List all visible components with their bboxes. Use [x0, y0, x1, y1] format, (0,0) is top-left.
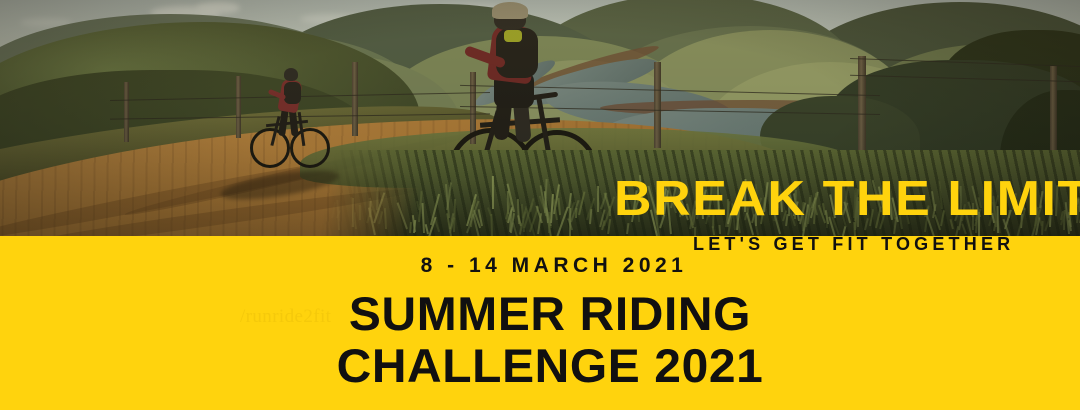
grass-blade — [409, 222, 412, 234]
rider-head — [284, 68, 298, 81]
grass-blade — [490, 214, 493, 236]
grass-blade — [597, 186, 599, 212]
grass-blade — [359, 205, 361, 220]
grass-blade — [491, 176, 493, 209]
grass-blade — [384, 208, 387, 229]
grass-blade — [529, 203, 534, 212]
fence-post — [1050, 66, 1057, 154]
hero-photo: BREAK THE LIMITS — [0, 0, 1080, 237]
grass-blade — [331, 202, 336, 218]
grass-blade — [379, 211, 384, 224]
grass-blade — [719, 225, 722, 234]
grass-blade — [609, 206, 611, 216]
grass-blade — [397, 202, 408, 229]
grass-blade — [323, 224, 327, 235]
fence-post — [654, 62, 661, 148]
grass-blade — [517, 199, 520, 224]
fence-post — [124, 82, 129, 142]
headline-line-1: SUMMER RIDING — [9, 288, 1080, 340]
grass-blade — [558, 198, 561, 215]
fence-post — [858, 56, 866, 156]
grass-blade — [311, 189, 314, 214]
headline-line-2: CHALLENGE 2021 — [9, 340, 1080, 392]
rider-helmet — [492, 2, 528, 19]
page-title: SUMMER RIDING CHALLENGE 2021 — [0, 288, 1080, 392]
promo-poster: BREAK THE LIMITS LET'S GET FIT TOGETHER … — [0, 0, 1080, 410]
cloud — [196, 2, 240, 14]
fence-post — [236, 76, 241, 138]
event-date: 8 - 14 MARCH 2021 — [0, 254, 1080, 278]
overlay-title: BREAK THE LIMITS — [614, 175, 1080, 224]
backpack-accent — [504, 30, 522, 42]
fence-post — [352, 62, 358, 136]
grass-blade — [578, 191, 585, 215]
grass-blade — [607, 219, 611, 235]
overlay-subtitle: LET'S GET FIT TOGETHER — [693, 234, 1014, 255]
rider-backpack — [284, 82, 301, 104]
